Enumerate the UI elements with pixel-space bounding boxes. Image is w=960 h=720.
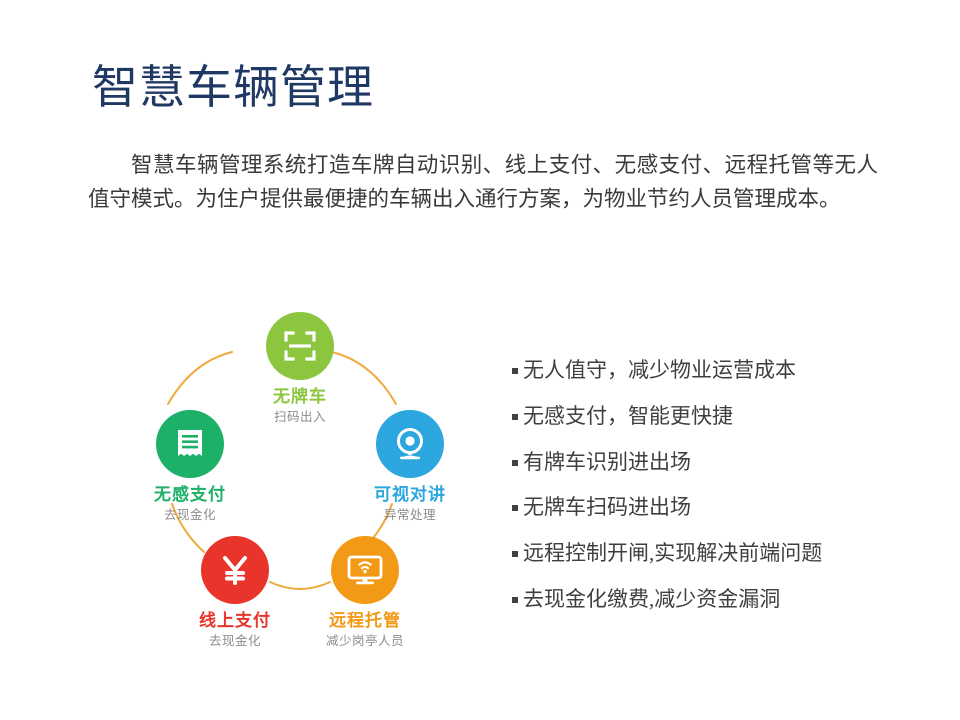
node-title: 远程托管 (290, 611, 440, 631)
bullet-marker-icon (512, 460, 518, 466)
list-item: 无人值守，减少物业运营成本 (512, 356, 892, 386)
node-circle (376, 410, 444, 478)
yuan-currency-icon (218, 552, 252, 588)
diagram-node-seamless-payment[interactable]: 无感支付 去现金化 (115, 410, 265, 523)
scan-code-icon (282, 328, 318, 364)
intro-paragraph: 智慧车辆管理系统打造车牌自动识别、线上支付、无感支付、远程托管等无人值守模式。为… (88, 148, 878, 216)
cycle-diagram: 无牌车 扫码出入 无感支付 去现金化 (120, 300, 480, 680)
node-title: 无牌车 (225, 387, 375, 407)
list-item: 远程控制开闸,实现解决前端问题 (512, 539, 892, 569)
node-subtitle: 异常处理 (335, 508, 485, 523)
node-title: 线上支付 (160, 611, 310, 631)
node-circle (331, 536, 399, 604)
diagram-node-plateless-vehicle[interactable]: 无牌车 扫码出入 (225, 312, 375, 425)
list-item-label: 有牌车识别进出场 (523, 448, 892, 478)
list-item: 无牌车扫码进出场 (512, 493, 892, 523)
webcam-icon (392, 426, 428, 462)
list-item-label: 无人值守，减少物业运营成本 (523, 356, 892, 386)
node-title: 可视对讲 (335, 485, 485, 505)
page-title: 智慧车辆管理 (92, 62, 374, 115)
bullet-marker-icon (512, 597, 518, 603)
list-item-label: 无感支付，智能更快捷 (523, 402, 892, 432)
node-circle (201, 536, 269, 604)
list-item-label: 无牌车扫码进出场 (523, 493, 892, 523)
diagram-node-video-intercom[interactable]: 可视对讲 异常处理 (335, 410, 485, 523)
bullet-marker-icon (512, 414, 518, 420)
bullet-marker-icon (512, 368, 518, 374)
node-subtitle: 去现金化 (115, 508, 265, 523)
receipt-icon (173, 426, 207, 462)
list-item-label: 远程控制开闸,实现解决前端问题 (523, 539, 892, 569)
node-subtitle: 减少岗亭人员 (290, 634, 440, 649)
node-circle (156, 410, 224, 478)
diagram-node-online-payment[interactable]: 线上支付 去现金化 (160, 536, 310, 649)
monitor-wifi-icon (346, 553, 384, 587)
node-circle (266, 312, 334, 380)
list-item: 有牌车识别进出场 (512, 448, 892, 478)
list-item: 无感支付，智能更快捷 (512, 402, 892, 432)
list-item: 去现金化缴费,减少资金漏洞 (512, 585, 892, 615)
bullet-marker-icon (512, 505, 518, 511)
benefit-list: 无人值守，减少物业运营成本 无感支付，智能更快捷 有牌车识别进出场 无牌车扫码进… (512, 356, 892, 631)
node-subtitle: 去现金化 (160, 634, 310, 649)
diagram-node-remote-management[interactable]: 远程托管 减少岗亭人员 (290, 536, 440, 649)
bullet-marker-icon (512, 551, 518, 557)
node-title: 无感支付 (115, 485, 265, 505)
list-item-label: 去现金化缴费,减少资金漏洞 (523, 585, 892, 615)
